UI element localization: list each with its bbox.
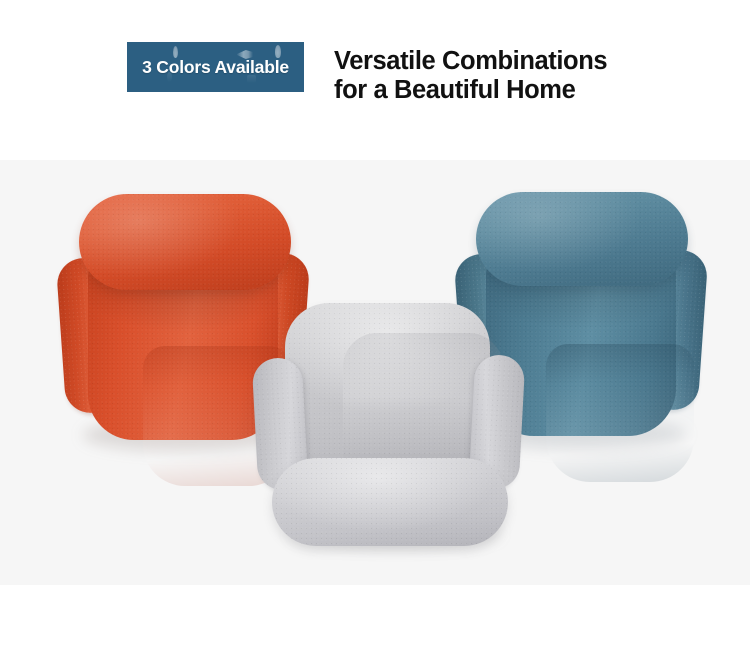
headline-line-1: Versatile Combinations — [334, 47, 664, 76]
chair-backrest — [285, 303, 490, 483]
footer-whitespace — [0, 585, 750, 651]
chair-seat-cushion — [272, 458, 508, 546]
product-morning-gray-chair[interactable] — [250, 300, 540, 550]
page-title: Versatile Combinations for a Beautiful H… — [334, 47, 664, 105]
badge-label: 3 Colors Available — [142, 57, 289, 78]
chair-backrest — [79, 194, 291, 290]
headline-line-2: for a Beautiful Home — [334, 76, 664, 105]
product-feature-image: 3 Colors Available Versatile Combination… — [0, 0, 750, 651]
colors-available-badge: 3 Colors Available — [127, 42, 304, 92]
chair-backrest — [476, 192, 688, 286]
product-stage: Orange-Red Check Morning Gray Check Roya… — [0, 160, 750, 585]
product-showcase-panel: Orange-Red Check Morning Gray Check Roya… — [0, 160, 750, 585]
header-banner: 3 Colors Available Versatile Combination… — [0, 0, 750, 150]
chair-seat-cushion — [546, 344, 694, 482]
